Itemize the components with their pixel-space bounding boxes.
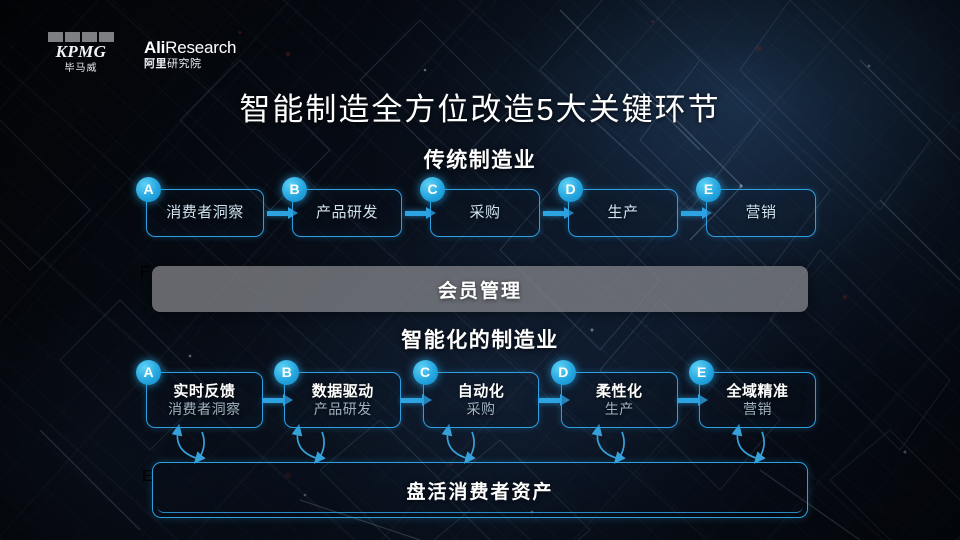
- smart-arrow-a-to-b: [263, 398, 284, 403]
- smart-node-a-sub: 消费者洞察: [168, 401, 241, 418]
- kpmg-chinese: 毕马威: [46, 63, 116, 75]
- smart-node-c-main: 自动化: [458, 383, 505, 401]
- member-management-bar[interactable]: F 会员管理: [152, 266, 808, 312]
- aliresearch-chinese: 阿里研究院: [144, 58, 236, 71]
- flow-node-b-badge: B: [282, 177, 307, 202]
- smart-node-b-main: 数据驱动: [312, 383, 374, 401]
- flow-node-e[interactable]: 营销 E: [706, 189, 816, 237]
- smart-node-d[interactable]: 柔性化 生产 D: [561, 372, 678, 428]
- flow-node-c-badge: C: [420, 177, 445, 202]
- arrow-right-icon: [678, 398, 699, 403]
- smart-node-d-main: 柔性化: [596, 383, 643, 401]
- smart-node-c-sub: 采购: [466, 401, 495, 418]
- smart-arrow-b-to-c: [401, 398, 422, 403]
- aliresearch-research: Research: [165, 38, 236, 57]
- arrow-c-to-d: [540, 211, 568, 216]
- aliresearch-ali: Ali: [144, 38, 165, 57]
- arrow-d-to-e: [678, 211, 706, 216]
- arrow-a-to-b: [264, 211, 292, 216]
- smart-arrow-d-to-e: [678, 398, 699, 403]
- flow-node-d[interactable]: 生产 D: [568, 189, 678, 237]
- smart-arrow-c-to-d: [539, 398, 560, 403]
- slide-canvas: KPMG 毕马威 AliResearch 阿里研究院 智能制造全方位改造5大关键…: [0, 0, 960, 540]
- flow-node-d-label: 生产: [607, 204, 638, 222]
- aliresearch-logo: AliResearch 阿里研究院: [144, 32, 236, 71]
- page-title: 智能制造全方位改造5大关键环节: [0, 90, 960, 130]
- flow-row-intelligent: 实时反馈 消费者洞察 A 数据驱动 产品研发 B 自动化 采购 C 柔性化 生: [146, 372, 816, 428]
- flow-node-e-badge: E: [696, 177, 721, 202]
- smart-node-b[interactable]: 数据驱动 产品研发 B: [284, 372, 401, 428]
- consumer-asset-bar[interactable]: E 盘活消费者资产: [152, 462, 808, 518]
- arrow-right-icon: [263, 398, 284, 403]
- flow-node-c[interactable]: 采购 C: [430, 189, 540, 237]
- smart-node-a[interactable]: 实时反馈 消费者洞察 A: [146, 372, 263, 428]
- arrow-right-icon: [543, 211, 565, 216]
- flow-node-a-label: 消费者洞察: [166, 204, 244, 222]
- smart-node-e-badge: E: [689, 360, 714, 385]
- smart-node-c-badge: C: [413, 360, 438, 385]
- flow-node-b-label: 产品研发: [316, 204, 378, 222]
- flow-node-a[interactable]: 消费者洞察 A: [146, 189, 264, 237]
- section-heading-intelligent: 智能化的制造业: [0, 324, 960, 354]
- smart-node-a-badge: A: [136, 360, 161, 385]
- consumer-asset-label: 盘活消费者资产: [406, 477, 553, 504]
- arrow-right-icon: [267, 211, 289, 216]
- arrow-right-icon: [681, 211, 703, 216]
- member-management-label: 会员管理: [438, 276, 522, 303]
- flow-row-traditional: 消费者洞察 A 产品研发 B 采购 C 生产 D 营销: [146, 189, 816, 237]
- kpmg-wordmark: KPMG: [46, 43, 116, 61]
- flow-node-b[interactable]: 产品研发 B: [292, 189, 402, 237]
- kpmg-logo: KPMG 毕马威: [46, 32, 116, 75]
- flow-node-a-badge: A: [136, 177, 161, 202]
- arrow-b-to-c: [402, 211, 430, 216]
- arrow-right-icon: [405, 211, 427, 216]
- flow-node-d-badge: D: [558, 177, 583, 202]
- arrow-right-icon: [539, 398, 560, 403]
- consumer-asset-badge: E: [142, 468, 153, 486]
- flow-node-e-label: 营销: [745, 204, 776, 222]
- aliresearch-wordmark: AliResearch: [144, 38, 236, 57]
- arrow-right-icon: [401, 398, 422, 403]
- member-management-badge: F: [140, 264, 150, 282]
- smart-node-e-main: 全域精准: [727, 383, 789, 401]
- logo-bar: KPMG 毕马威 AliResearch 阿里研究院: [46, 32, 236, 75]
- smart-node-c[interactable]: 自动化 采购 C: [423, 372, 540, 428]
- aliresearch-chinese-regular: 研究院: [167, 58, 202, 70]
- smart-node-e-sub: 营销: [743, 401, 772, 418]
- kpmg-squares: [46, 32, 116, 42]
- flow-node-c-label: 采购: [469, 204, 500, 222]
- smart-node-b-sub: 产品研发: [314, 401, 372, 418]
- section-heading-traditional: 传统制造业: [0, 144, 960, 174]
- smart-node-a-main: 实时反馈: [173, 383, 235, 401]
- smart-node-d-sub: 生产: [605, 401, 634, 418]
- smart-node-d-badge: D: [551, 360, 576, 385]
- aliresearch-chinese-bold: 阿里: [144, 58, 167, 70]
- smart-node-e[interactable]: 全域精准 营销 E: [699, 372, 816, 428]
